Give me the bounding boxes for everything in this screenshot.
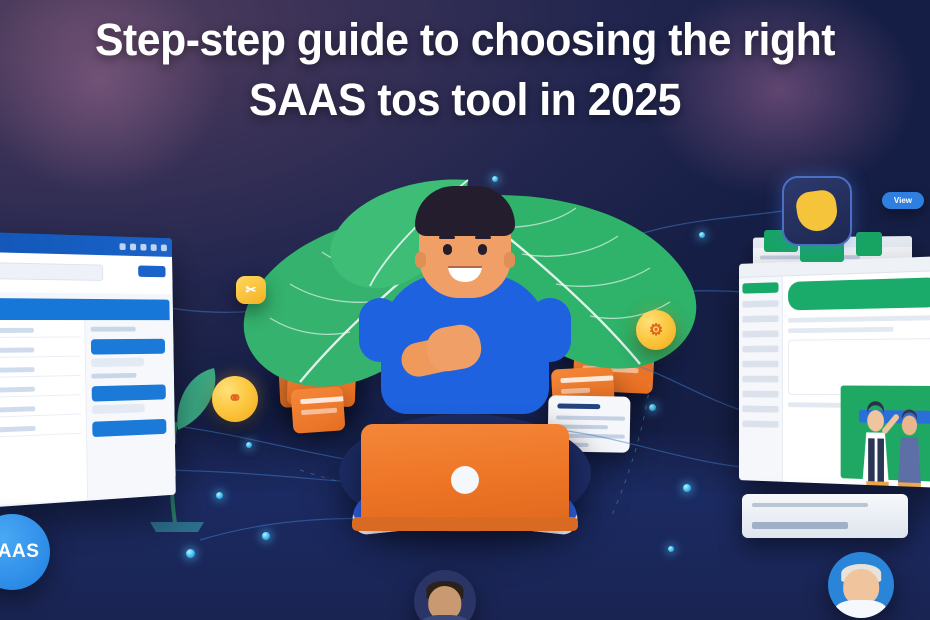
green-chip xyxy=(856,232,882,256)
eye-left xyxy=(443,244,452,255)
user-icon[interactable] xyxy=(161,244,167,251)
laptop-base xyxy=(352,517,578,531)
device-footer-bar xyxy=(742,494,908,538)
people-illustration xyxy=(841,391,930,487)
table-row[interactable] xyxy=(0,384,81,398)
table-row[interactable] xyxy=(0,422,82,437)
sidebar-item[interactable] xyxy=(742,315,778,322)
chat-bubble xyxy=(91,358,143,367)
right-dashboard-window[interactable] xyxy=(739,256,930,488)
data-table xyxy=(0,320,87,506)
bell-icon[interactable] xyxy=(140,243,146,250)
chat-label xyxy=(91,327,136,332)
right-dashboard-sidebar xyxy=(739,276,783,482)
avatar-body xyxy=(835,600,886,618)
person-figure-icon xyxy=(794,188,839,233)
hero-banner-card xyxy=(788,277,930,310)
character-illustration xyxy=(315,178,615,558)
table-row[interactable] xyxy=(0,345,80,358)
profile-hex-badge[interactable] xyxy=(782,176,852,246)
left-dashboard-toolbar xyxy=(0,252,173,294)
device-line xyxy=(752,503,868,507)
mouth-smile xyxy=(448,266,482,282)
ear-right xyxy=(504,252,515,268)
hero-banner: View ✂ ⚭ ⚙ xyxy=(0,0,930,620)
hair xyxy=(415,186,515,236)
grid-icon[interactable] xyxy=(151,244,157,251)
left-dashboard-window[interactable] xyxy=(0,232,176,508)
sleeve-right xyxy=(529,298,571,362)
menu-icon[interactable] xyxy=(119,243,125,250)
laptop-logo-icon xyxy=(451,466,479,494)
eyebrow-right xyxy=(475,236,491,239)
left-dashboard-content xyxy=(0,320,172,506)
badge-network-icon[interactable]: ⚭ xyxy=(212,376,258,422)
table-row[interactable] xyxy=(0,364,81,377)
badge-plug-icon[interactable]: ⚙ xyxy=(636,310,676,350)
left-dashboard-banner xyxy=(0,298,170,320)
content-line xyxy=(788,327,893,333)
badge-share-icon[interactable]: ✂ xyxy=(236,276,266,304)
sidebar-primary-button[interactable] xyxy=(742,282,778,293)
chat-panel xyxy=(84,320,172,499)
sidebar-item[interactable] xyxy=(742,421,778,428)
content-line xyxy=(788,315,930,323)
sidebar-item[interactable] xyxy=(742,361,778,368)
sidebar-item[interactable] xyxy=(742,376,778,383)
table-row[interactable] xyxy=(0,326,80,338)
device-text xyxy=(752,522,848,529)
sidebar-item[interactable] xyxy=(742,391,778,398)
sidebar-item[interactable] xyxy=(742,330,778,337)
chat-bubble xyxy=(91,339,165,355)
eye-right xyxy=(478,244,487,255)
sidebar-item[interactable] xyxy=(742,346,778,353)
ear-left xyxy=(415,252,426,268)
view-pill-button[interactable]: View xyxy=(882,192,924,209)
sidebar-item[interactable] xyxy=(742,406,778,413)
headline: Step-step guide to choosing the right SA… xyxy=(0,16,930,123)
primary-action-button[interactable] xyxy=(138,265,166,277)
chat-bubble xyxy=(92,404,144,414)
search-input[interactable] xyxy=(0,262,103,281)
sidebar-item[interactable] xyxy=(742,300,778,307)
cart-icon[interactable] xyxy=(130,243,136,250)
eyebrow-left xyxy=(439,236,455,239)
sleeve-left xyxy=(359,298,401,362)
chat-bubble xyxy=(92,384,166,401)
headline-line-2: SAAS tos tool in 2025 xyxy=(23,76,907,124)
chat-label xyxy=(91,373,136,379)
avatar-body xyxy=(421,615,469,620)
laptop xyxy=(361,424,569,522)
chat-bubble xyxy=(92,419,166,437)
avatar-right[interactable] xyxy=(828,552,894,618)
headline-line-1: Step-step guide to choosing the right xyxy=(23,16,907,64)
table-row[interactable] xyxy=(0,403,81,418)
